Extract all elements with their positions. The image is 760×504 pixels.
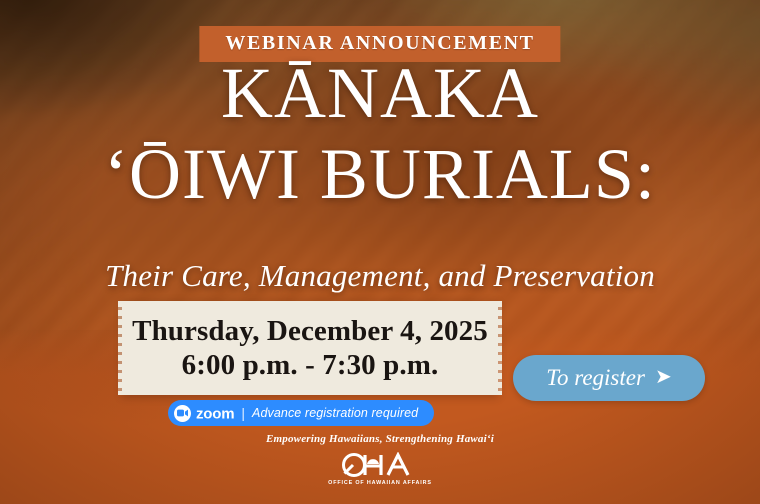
- zoom-video-camera-icon: [174, 405, 191, 422]
- zoom-badge-note: Advance registration required: [252, 407, 418, 420]
- page-title-line-2: ʻŌIWI BURIALS:: [0, 139, 760, 210]
- zoom-registration-badge: zoom | Advance registration required: [168, 400, 434, 426]
- event-date-line: Thursday, December 4, 2025: [132, 315, 488, 347]
- zoom-badge-separator: |: [241, 406, 245, 420]
- page-subtitle: Their Care, Management, and Preservation: [0, 258, 760, 294]
- event-time-line: 6:00 p.m. - 7:30 p.m.: [182, 349, 439, 381]
- zoom-logo: zoom: [174, 405, 234, 422]
- poster-content: WEBINAR ANNOUNCEMENT KĀNAKA ʻŌIWI BURIAL…: [0, 0, 760, 504]
- zoom-wordmark: zoom: [196, 406, 234, 421]
- arrow-right-icon: ➤: [655, 367, 672, 387]
- to-register-button[interactable]: To register ➤: [513, 355, 705, 401]
- oha-tagline: Empowering Hawaiians, Strengthening Hawa…: [0, 433, 760, 445]
- to-register-button-label: To register: [546, 365, 645, 391]
- oha-logo-icon: [341, 452, 419, 478]
- webinar-announcement-poster: WEBINAR ANNOUNCEMENT KĀNAKA ʻŌIWI BURIAL…: [0, 0, 760, 504]
- page-title-line-1: KĀNAKA: [0, 58, 760, 129]
- oha-logo-subtitle: OFFICE OF HAWAIIAN AFFAIRS: [328, 480, 432, 486]
- event-date-card: Thursday, December 4, 2025 6:00 p.m. - 7…: [122, 301, 498, 395]
- page-title: KĀNAKA ʻŌIWI BURIALS:: [0, 58, 760, 209]
- oha-logo: OFFICE OF HAWAIIAN AFFAIRS: [320, 452, 440, 486]
